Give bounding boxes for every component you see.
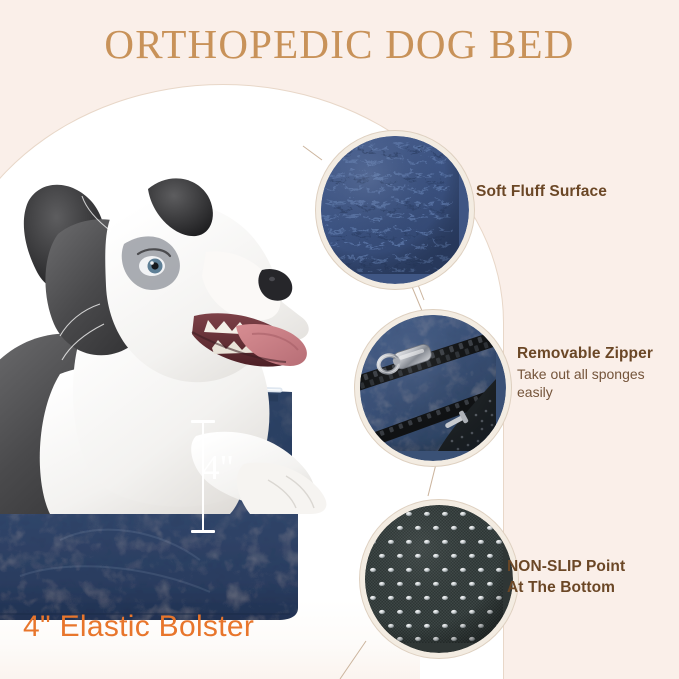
- feature-subtitle-zipper-line2: easily: [517, 383, 653, 401]
- feature-title-nonslip-line1: NON-SLIP Point: [507, 557, 625, 578]
- page-title: ORTHOPEDIC DOG BED: [0, 20, 679, 68]
- feature-swatch-nonslip[interactable]: [360, 500, 518, 658]
- feature-title-zipper: Removable Zipper: [517, 344, 653, 365]
- orthopedic-dog-bed-infographic: 4": [0, 0, 679, 679]
- dimension-cap-bottom: [191, 530, 215, 533]
- dimension-value: 4": [183, 448, 253, 488]
- feature-swatch-fluff[interactable]: [316, 131, 474, 289]
- feature-subtitle-zipper-line1: Take out all sponges: [517, 365, 653, 383]
- bolster-caption: 4" Elastic Bolster: [23, 610, 254, 644]
- bolster-height-dimension: 4": [183, 418, 263, 536]
- feature-label-zipper: Removable Zipper Take out all sponges ea…: [517, 344, 653, 402]
- feature-swatch-zipper[interactable]: [355, 310, 511, 466]
- feature-title-nonslip-line2: At The Bottom: [507, 578, 625, 599]
- feature-label-fluff: Soft Fluff Surface: [476, 182, 607, 203]
- feature-label-nonslip: NON-SLIP Point At The Bottom: [507, 557, 625, 599]
- feature-title-fluff: Soft Fluff Surface: [476, 182, 607, 203]
